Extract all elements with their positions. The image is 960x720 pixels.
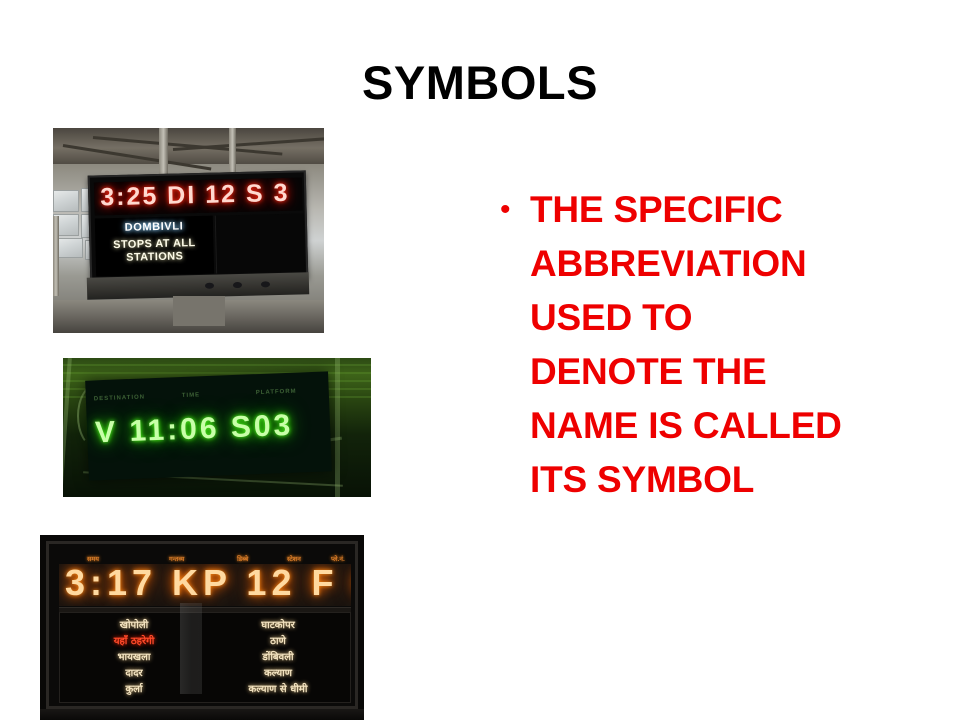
bullet-text-line: NAME IS CALLED — [530, 399, 927, 453]
skylight-pane — [53, 190, 79, 212]
stops-note: STOPS AT ALL STATIONS — [95, 237, 214, 266]
led-train-info-text: 3:17 KP 12 F 6 — [65, 564, 351, 604]
body-text-block: • THE SPECIFIC ABBREVIATION USED TO DENO… — [497, 183, 927, 507]
station-list-panel: खोपोली यहाँ ठहरेगी भायखला दादर कुर्ला घा… — [59, 612, 351, 703]
indicator-board-panel: 3:25 DI 12 S 3 DOMBIVLI STOPS AT ALL STA… — [88, 170, 309, 282]
bullet-list-item: • THE SPECIFIC ABBREVIATION USED TO DENO… — [497, 183, 927, 507]
housing-bolt — [205, 283, 214, 289]
housing-bolt — [233, 282, 242, 288]
bullet-text-content: THE SPECIFIC ABBREVIATION USED TO DENOTE… — [530, 183, 927, 507]
photo-indicator-board-dombivli: 3:25 DI 12 S 3 DOMBIVLI STOPS AT ALL STA… — [53, 128, 324, 333]
support-column — [159, 128, 168, 176]
header-label-coaches: डिब्बे — [237, 554, 248, 563]
bullet-point-icon: • — [497, 183, 530, 237]
photo-indicator-board-khopoli: समय गन्तव्य डिब्बे स्टेशन प्ले.नं. 3:17 … — [40, 535, 364, 720]
header-label-destination: गन्तव्य — [169, 554, 184, 563]
station-name: डोंबिवली — [208, 650, 348, 666]
header-label-platform: प्ले.नं. — [331, 554, 345, 563]
destination-panel: DOMBIVLI STOPS AT ALL STATIONS — [95, 216, 214, 277]
bullet-text-line: DENOTE THE — [530, 345, 927, 399]
header-label-time: समय — [87, 554, 99, 563]
presentation-slide: SYMBOLS 3:25 DI 12 S 3 DOMBIVLI STOPS AT… — [0, 0, 960, 720]
led-train-info-text: V 11:06 S03 — [95, 409, 294, 451]
blank-panel — [215, 213, 305, 273]
station-name: कल्याण से धीमी — [208, 682, 348, 698]
indicator-board-frame: समय गन्तव्य डिब्बे स्टेशन प्ले.नं. 3:17 … — [46, 541, 358, 709]
header-label-platform: PLATFORM — [256, 389, 297, 397]
photo-indicator-board-green: DESTINATION TIME PLATFORM V 11:06 S03 — [63, 358, 371, 497]
roof-slat — [63, 364, 371, 366]
led-display-strip: 3:17 KP 12 F 6 — [59, 564, 351, 606]
station-name: कल्याण — [208, 666, 348, 682]
board-bottom-rail — [40, 709, 364, 720]
bullet-text-line: USED TO — [530, 291, 927, 345]
bullet-text-line: THE SPECIFIC — [530, 183, 927, 237]
station-list-right: घाटकोपर ठाणे डोंबिवली कल्याण कल्याण से ध… — [208, 618, 348, 698]
glare-reflection — [180, 603, 202, 694]
support-column — [229, 128, 236, 172]
led-display-strip: 3:25 DI 12 S 3 — [94, 177, 303, 215]
bullet-text-line: ABBREVIATION — [530, 237, 927, 291]
support-column — [53, 216, 59, 296]
header-label-time: TIME — [182, 392, 201, 399]
housing-bolt — [261, 281, 270, 287]
header-label-station: स्टेशन — [287, 554, 301, 563]
skylight-pane — [55, 238, 83, 258]
led-train-info-text: 3:25 DI 12 S 3 — [100, 179, 290, 213]
station-name: घाटकोपर — [208, 618, 348, 634]
page-title: SYMBOLS — [240, 58, 720, 107]
bullet-text-line: ITS SYMBOL — [530, 453, 927, 507]
station-name: ठाणे — [208, 634, 348, 650]
platform-pillar — [173, 296, 225, 326]
header-label-destination: DESTINATION — [94, 394, 145, 402]
indicator-board-panel: DESTINATION TIME PLATFORM V 11:06 S03 — [85, 371, 332, 480]
destination-label: DOMBIVLI — [95, 220, 213, 235]
support-pole — [335, 358, 340, 497]
